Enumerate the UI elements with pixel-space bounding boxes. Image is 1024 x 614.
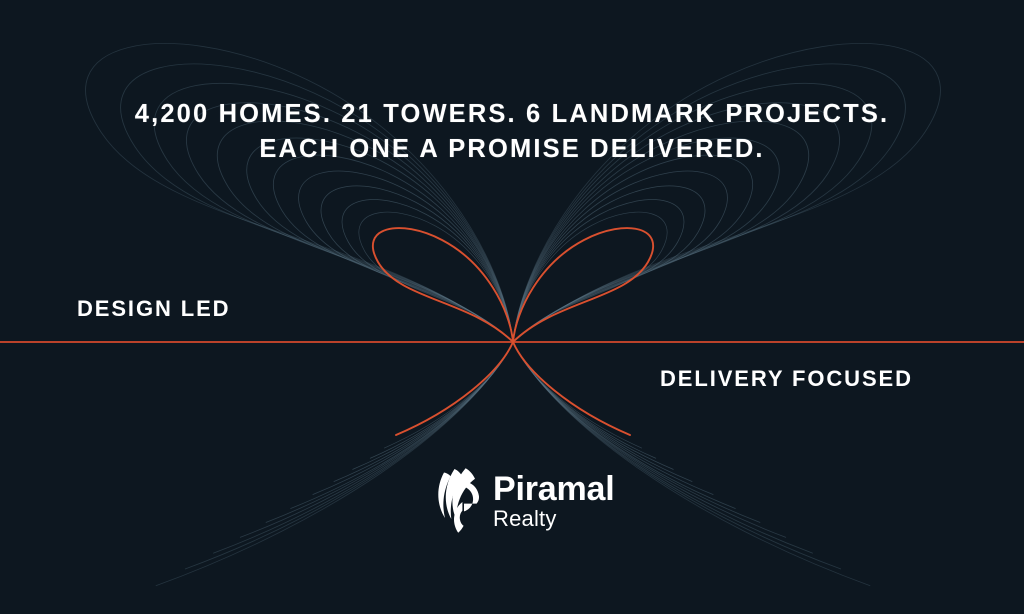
page-headline: 4,200 HOMES. 21 TOWERS. 6 LANDMARK PROJE… bbox=[0, 62, 1024, 202]
headline-line-1: 4,200 HOMES. 21 TOWERS. 6 LANDMARK PROJE… bbox=[135, 100, 889, 128]
label-design-led: DESIGN LED bbox=[77, 296, 230, 322]
logo-primary-text: Piramal bbox=[493, 472, 614, 506]
accent-ribbon bbox=[373, 228, 653, 435]
label-delivery-focused: DELIVERY FOCUSED bbox=[660, 366, 913, 392]
piramal-realty-logo: Piramal Realty bbox=[432, 466, 614, 536]
piramal-flame-mark bbox=[432, 466, 484, 536]
logo-secondary-text: Realty bbox=[493, 508, 614, 530]
promotional-banner: 4,200 HOMES. 21 TOWERS. 6 LANDMARK PROJE… bbox=[0, 0, 1024, 614]
headline-line-2: EACH ONE A PROMISE DELIVERED. bbox=[0, 132, 1024, 167]
